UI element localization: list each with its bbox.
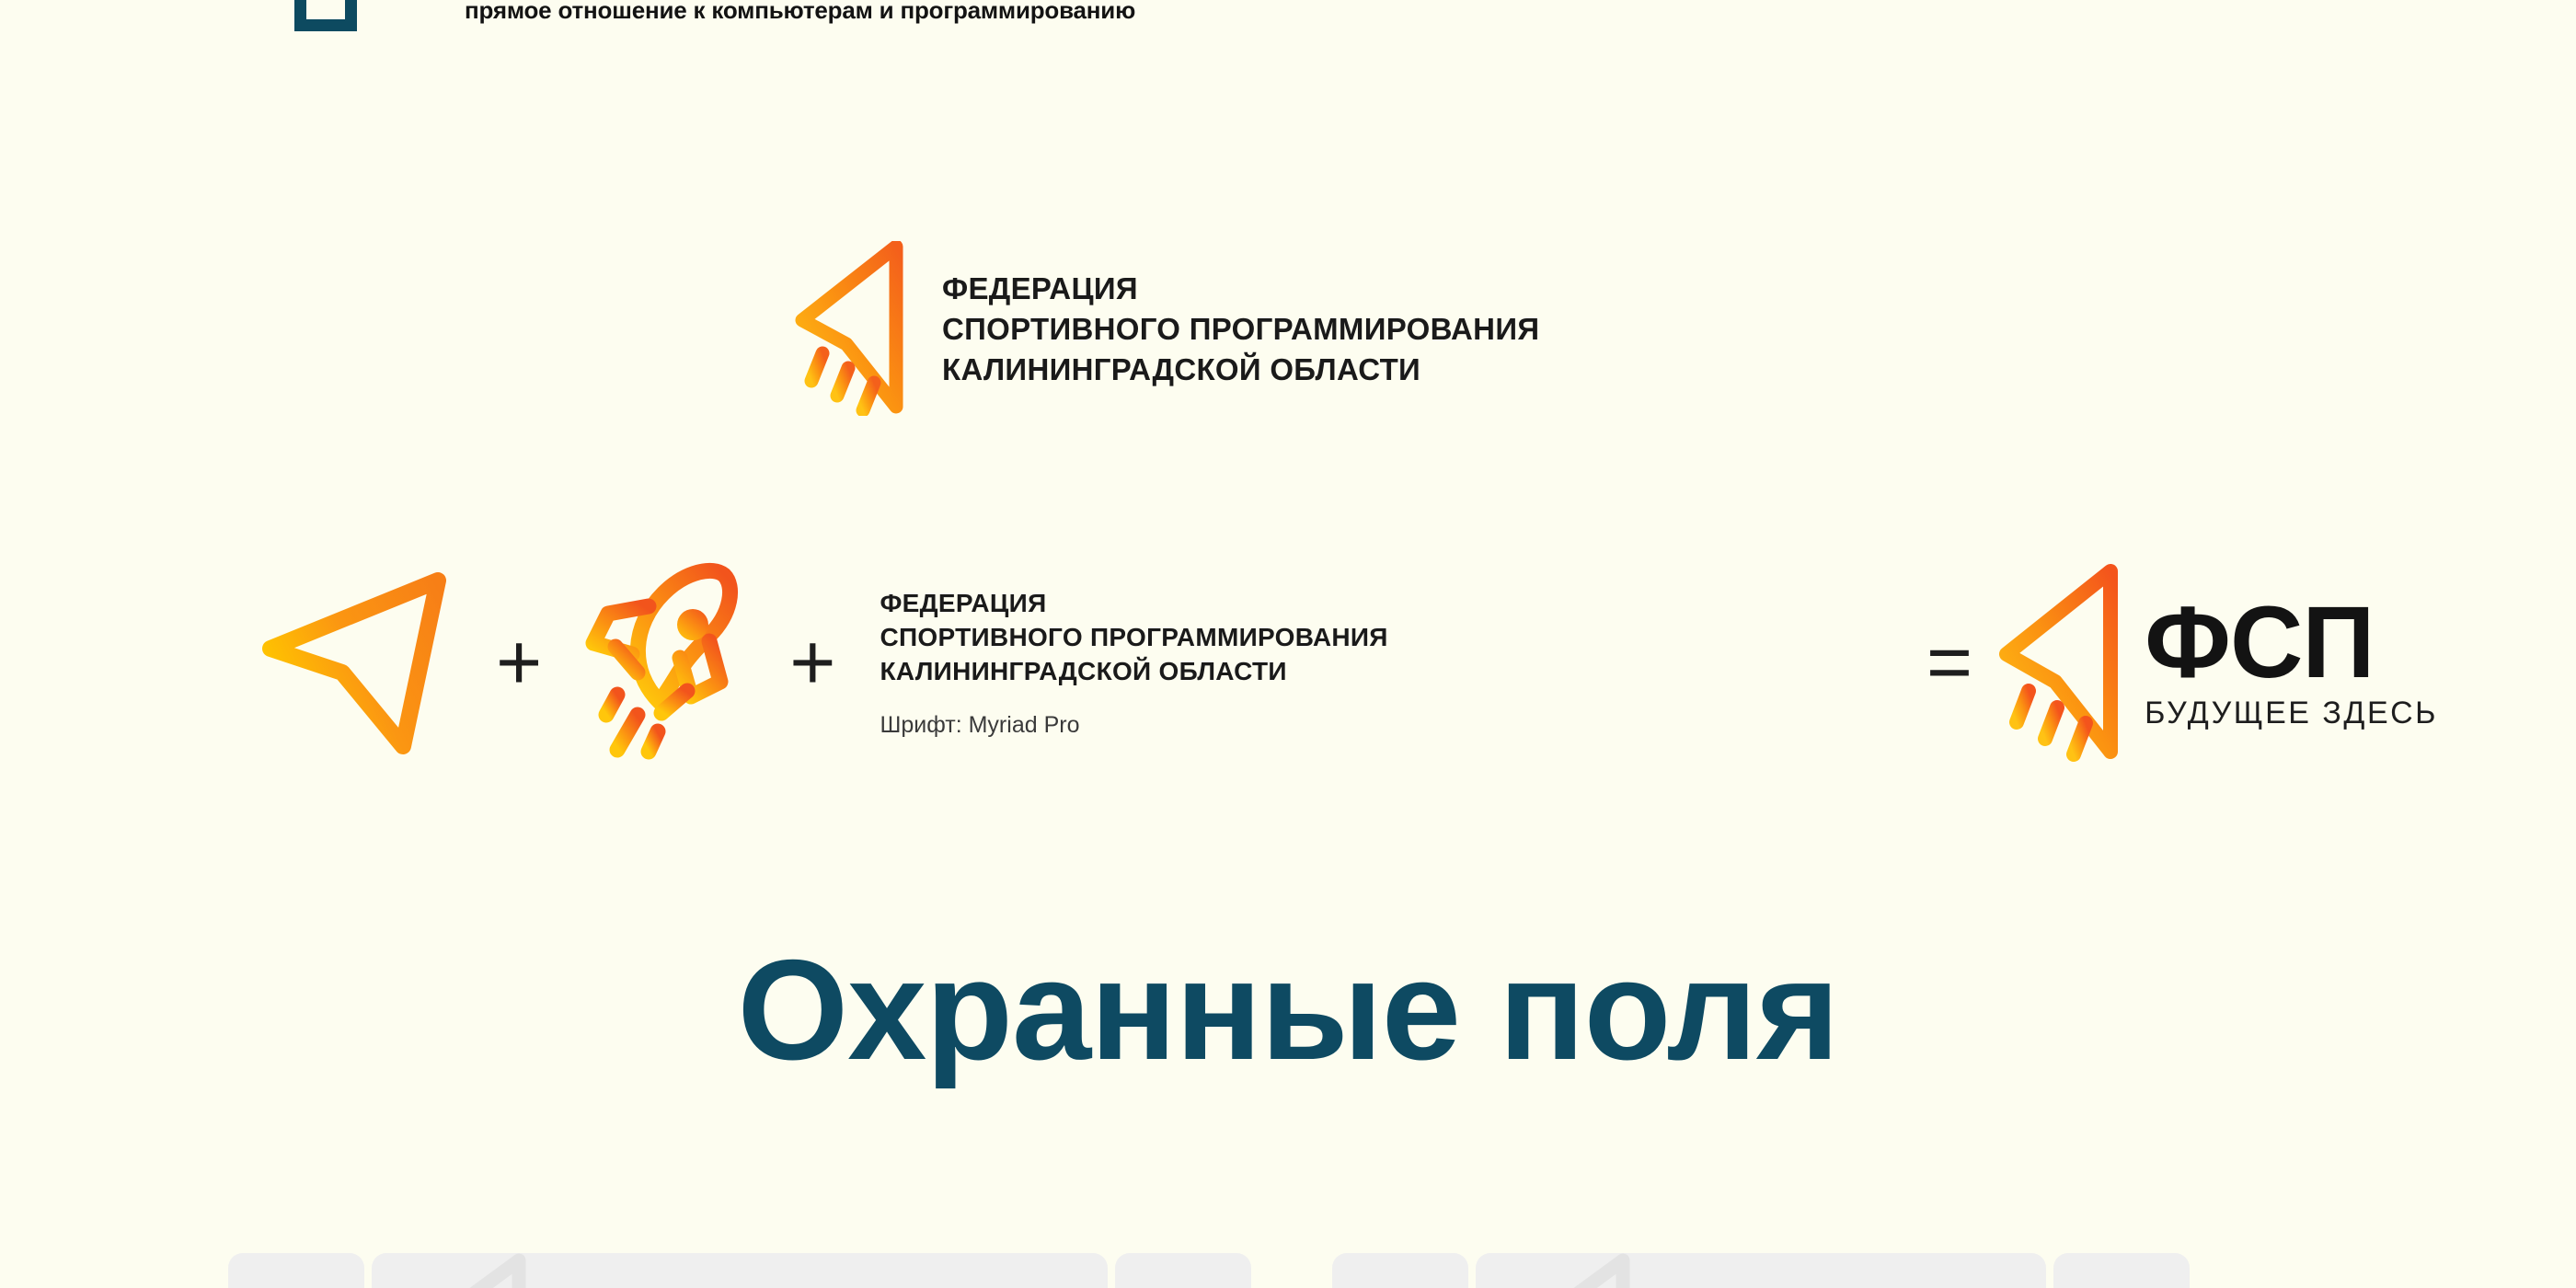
font-note: Шрифт: Myriad Pro: [880, 712, 1387, 739]
clearspace-box-main: [1476, 1253, 2046, 1288]
logo-construction-formula: + + ФЕДЕРАЦИЯ: [258, 543, 2438, 782]
logo-wordmark: ФЕДЕРАЦИЯ СПОРТИВНОГО ПРОГРАММИРОВАНИЯ К…: [942, 273, 1539, 385]
clearspace-box: [2053, 1253, 2190, 1288]
logo-wordmark-line-2: СПОРТИВНОГО ПРОГРАММИРОВАНИЯ: [942, 314, 1539, 344]
clearspace-box: [228, 1253, 364, 1288]
logo-wordmark-line-1: ФЕДЕРАЦИЯ: [942, 273, 1539, 304]
fsp-arrow-mark-ghost-icon: [420, 1253, 530, 1288]
formula-wordmark-line-3: КАЛИНИНГРАДСКОЙ ОБЛАСТИ: [880, 654, 1387, 688]
fsp-text-block: ФСП БУДУЩЕЕ ЗДЕСЬ: [2145, 596, 2438, 728]
fsp-abbreviation: ФСП: [2145, 596, 2438, 689]
logo-lockup-primary: ФЕДЕРАЦИЯ СПОРТИВНОГО ПРОГРАММИРОВАНИЯ К…: [793, 241, 1539, 416]
operator-plus-2: +: [765, 623, 859, 702]
clearspace-box-main: [372, 1253, 1108, 1288]
formula-wordmark-block: ФЕДЕРАЦИЯ СПОРТИВНОГО ПРОГРАММИРОВАНИЯ К…: [880, 586, 1387, 740]
square-outline-icon: [294, 0, 357, 31]
cursor-arrow-outline-icon: [258, 564, 455, 762]
rocket-outline-icon: [571, 555, 760, 771]
logo-wordmark-line-3: КАЛИНИНГРАДСКОЙ ОБЛАСТИ: [942, 354, 1539, 385]
clearspace-box: [1332, 1253, 1468, 1288]
clearspace-diagram-strip: [0, 1253, 2576, 1288]
clearspace-diagram-left: [228, 1253, 1251, 1288]
operator-plus-1: +: [472, 623, 566, 702]
formula-wordmark-line-2: СПОРТИВНОГО ПРОГРАММИРОВАНИЯ: [880, 620, 1387, 654]
fsp-arrow-mark-ghost-icon: [1524, 1253, 1634, 1288]
fsp-arrow-mark-icon: [793, 241, 905, 416]
top-note-row: прямое отношение к компьютерам и програм…: [0, 0, 2576, 31]
page-title: Охранные поля: [0, 938, 2576, 1081]
operator-equals: =: [1903, 623, 1996, 702]
fsp-arrow-mark-icon: [1996, 564, 2121, 762]
fsp-tagline: БУДУЩЕЕ ЗДЕСЬ: [2145, 697, 2438, 729]
clearspace-diagram-right: [1332, 1253, 2190, 1288]
logo-lockup-abbreviated: ФСП БУДУЩЕЕ ЗДЕСЬ: [1996, 564, 2438, 762]
top-note-text: прямое отношение к компьютерам и програм…: [465, 0, 1135, 25]
clearspace-box: [1115, 1253, 1251, 1288]
formula-wordmark-line-1: ФЕДЕРАЦИЯ: [880, 586, 1387, 620]
